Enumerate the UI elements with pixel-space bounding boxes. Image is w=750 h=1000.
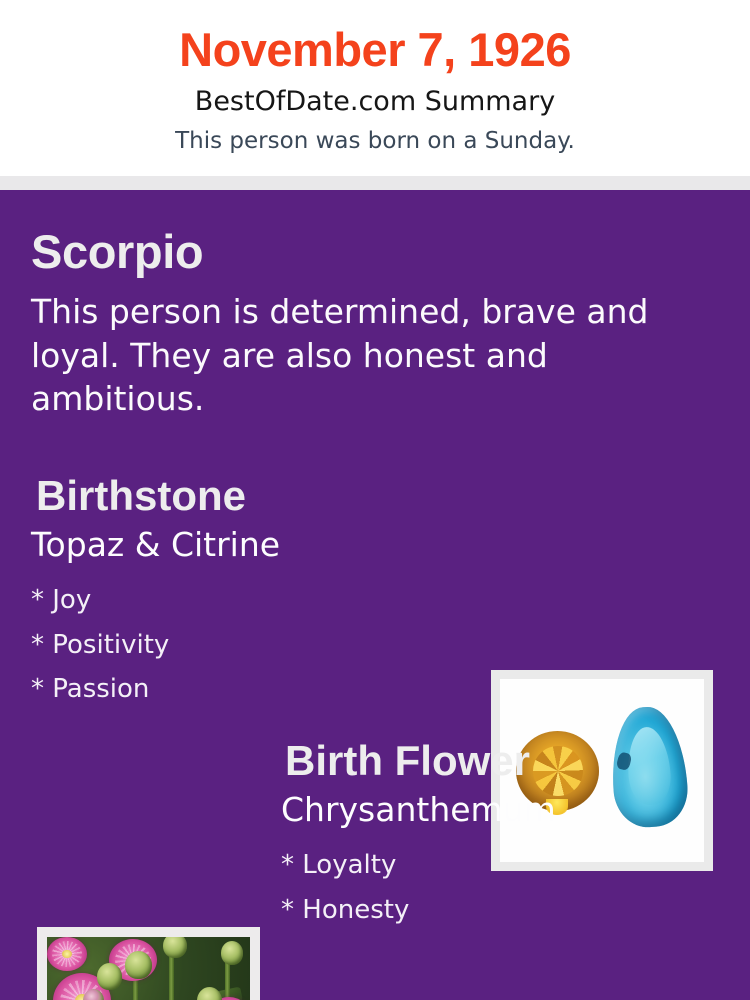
flower-bud-icon (97, 963, 122, 990)
birthstone-image (500, 679, 704, 862)
site-name-subtitle: BestOfDate.com Summary (0, 86, 750, 118)
topaz-gem-icon (608, 705, 690, 830)
list-item: * Honesty (281, 888, 701, 933)
birth-flower-trait-list: * Loyalty * Honesty (281, 843, 701, 932)
birth-flower-heading: Birth Flower (285, 739, 530, 783)
flower-bud-icon (163, 937, 187, 958)
header: November 7, 1926 BestOfDate.com Summary … (0, 0, 750, 176)
birth-flower-image-frame (37, 927, 260, 1000)
birthstone-heading: Birthstone (36, 474, 246, 518)
birthstone-name: Topaz & Citrine (31, 525, 280, 565)
header-divider (0, 176, 750, 190)
list-item: * Passion (31, 667, 451, 712)
zodiac-sign-heading: Scorpio (31, 227, 203, 276)
weekday-note: This person was born on a Sunday. (0, 128, 750, 156)
list-item: * Loyalty (281, 843, 701, 888)
flower-bud-icon (221, 941, 243, 965)
birth-flower-image (47, 937, 250, 1000)
summary-card: November 7, 1926 BestOfDate.com Summary … (0, 0, 750, 1000)
zodiac-description: This person is determined, brave and loy… (31, 290, 697, 421)
list-item: * Positivity (31, 623, 451, 668)
flower-bud-icon (197, 987, 222, 1000)
list-item: * Joy (31, 578, 451, 623)
flower-bud-icon (125, 951, 152, 979)
details-panel: Scorpio This person is determined, brave… (0, 190, 750, 1000)
birth-flower-name: Chrysanthemum (281, 790, 556, 830)
page-title-date: November 7, 1926 (0, 22, 750, 77)
flower-bloom-icon (47, 937, 87, 971)
birthstone-trait-list: * Joy * Positivity * Passion (31, 578, 451, 712)
